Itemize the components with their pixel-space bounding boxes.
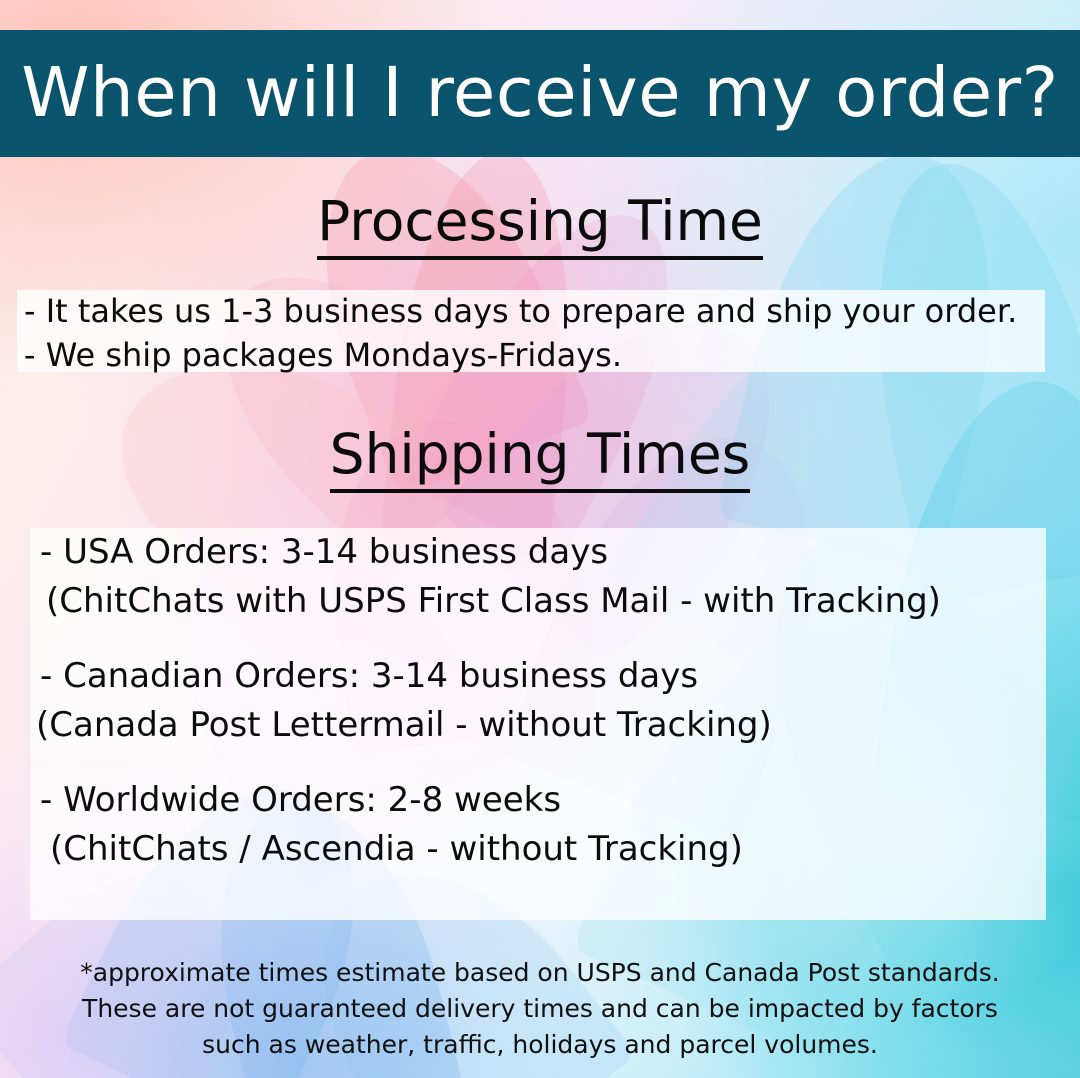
shipping-group-usa: - USA Orders: 3-14 business days (ChitCh… [36, 528, 1040, 626]
shipping-policy-infographic: When will I receive my order? Processing… [0, 0, 1080, 1078]
shipping-times-text: - USA Orders: 3-14 business days (ChitCh… [36, 528, 1040, 874]
processing-time-text: - It takes us 1-3 business days to prepa… [24, 289, 1017, 377]
section-heading-processing-time: Processing Time [0, 194, 1080, 260]
section-heading-processing-time-label: Processing Time [317, 194, 763, 260]
shipping-group-usa-line-1: - USA Orders: 3-14 business days [36, 528, 1040, 577]
footnote-line-2: These are not guaranteed delivery times … [0, 991, 1080, 1027]
shipping-group-worldwide-line-1: - Worldwide Orders: 2-8 weeks [36, 776, 1040, 825]
footnote-line-1: *approximate times estimate based on USP… [0, 955, 1080, 991]
shipping-group-canada: - Canadian Orders: 3-14 business days (C… [36, 652, 1040, 750]
shipping-group-worldwide-line-2: (ChitChats / Ascendia - without Tracking… [36, 825, 1040, 874]
processing-time-line-1: - It takes us 1-3 business days to prepa… [24, 289, 1017, 333]
shipping-group-usa-line-2: (ChitChats with USPS First Class Mail - … [36, 577, 1040, 626]
footnote-line-3: such as weather, traffic, holidays and p… [0, 1027, 1080, 1063]
shipping-group-worldwide: - Worldwide Orders: 2-8 weeks (ChitChats… [36, 776, 1040, 874]
processing-time-line-2: - We ship packages Mondays-Fridays. [24, 333, 1017, 377]
shipping-group-canada-line-1: - Canadian Orders: 3-14 business days [36, 652, 1040, 701]
section-heading-shipping-times: Shipping Times [0, 427, 1080, 493]
shipping-group-canada-line-2: (Canada Post Lettermail - without Tracki… [36, 701, 1040, 750]
footnote-disclaimer: *approximate times estimate based on USP… [0, 955, 1080, 1063]
page-title: When will I receive my order? [21, 59, 1058, 128]
section-heading-shipping-times-label: Shipping Times [330, 427, 751, 493]
header-banner: When will I receive my order? [0, 30, 1080, 157]
